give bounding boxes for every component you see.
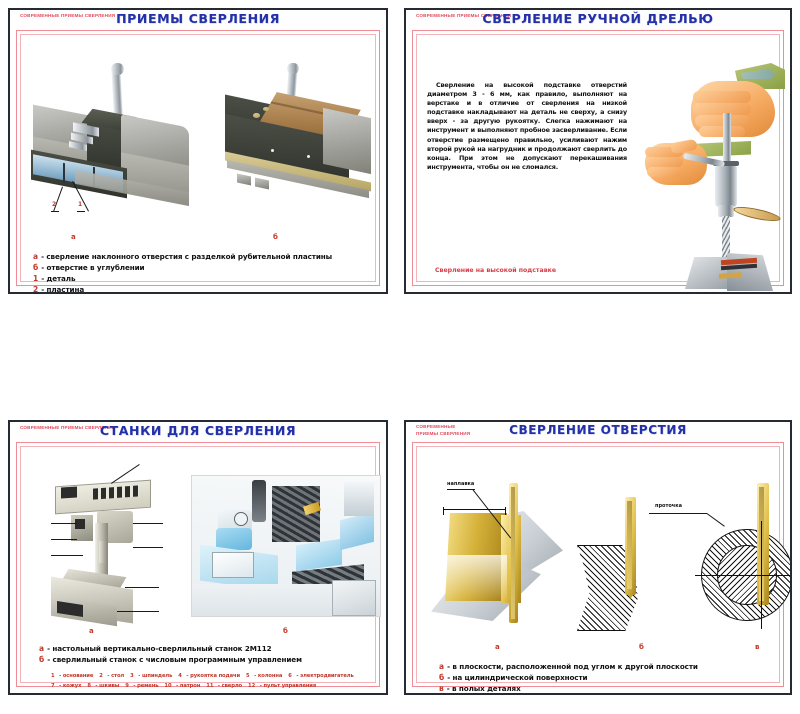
press-leader-2 xyxy=(51,523,77,524)
caption-key: б xyxy=(33,262,38,273)
panel-drilling-techniques: СОВРЕМЕННЫЕ ПРИЕМЫ СВЕРЛЕНИЯ ПРИЕМЫ СВЕР… xyxy=(8,8,388,294)
press-head-badge xyxy=(61,486,77,498)
callout-2: 2 xyxy=(52,201,56,208)
caption-text: - деталь xyxy=(41,273,75,284)
figure-mark-c-4: в xyxy=(755,643,759,651)
panel-4-frame-inner: наплавка а xyxy=(416,446,780,683)
cnc-gauge xyxy=(234,512,248,526)
caption-key: а xyxy=(439,661,444,672)
panel-3-captions: а - настольный вертикально-сверлильный с… xyxy=(39,643,367,665)
workpiece-gold-shadow xyxy=(445,555,507,601)
figure-vise-a: 2 1 xyxy=(29,63,199,228)
legend-item: 7 - кожух xyxy=(51,679,81,690)
dim-line-a xyxy=(443,509,505,510)
legend-text: - сверло xyxy=(218,683,242,689)
panel-2-frame: Сверление на высокой подставке отверстий… xyxy=(412,30,784,286)
cnc-panel-white xyxy=(212,552,254,578)
hand-lower-finger-2 xyxy=(645,157,683,167)
panel-2-stage: Сверление на высокой подставке отверстий… xyxy=(417,35,779,281)
caption-line: а - в плоскости, расположенной под углом… xyxy=(439,661,771,672)
legend-line: 7 - кожух 8 - шкивы 9 - ремень xyxy=(51,679,367,690)
poster-set-page: СОВРЕМЕННЫЕ ПРИЕМЫ СВЕРЛЕНИЯ ПРИЕМЫ СВЕР… xyxy=(0,0,800,714)
legend-text: - кожух xyxy=(59,683,81,689)
panel-1-frame: 2 1 а xyxy=(16,30,380,286)
caption-line: в - в полых деталях xyxy=(439,683,771,694)
annotation-leader-c xyxy=(649,513,707,514)
legend-item: 9 - ремень xyxy=(125,679,158,690)
cnc-gantry xyxy=(252,480,266,522)
caption-text: - сверлильный станок с числовым программ… xyxy=(47,654,302,665)
panel-4-frame: наплавка а xyxy=(412,442,784,687)
hand-upper-finger-1 xyxy=(693,91,751,103)
caption-line: б - отверстие в углублении xyxy=(33,262,367,273)
caption-key: 1 xyxy=(33,273,38,284)
press-leader-8 xyxy=(117,611,159,612)
dim-tick-a2 xyxy=(505,507,506,515)
vise-handle-knob-a xyxy=(111,63,124,75)
annotation-protochka: проточка xyxy=(655,503,682,509)
press-spindle xyxy=(99,541,106,563)
vise-dot-1 xyxy=(271,149,274,152)
caption-line: а - настольный вертикально-сверлильный с… xyxy=(39,643,367,654)
panel-1-inner: СОВРЕМЕННЫЕ ПРИЕМЫ СВЕРЛЕНИЯ ПРИЕМЫ СВЕР… xyxy=(10,10,386,292)
caption-line: б - сверлильный станок с числовым програ… xyxy=(39,654,367,665)
panel-1-stage: 2 1 а xyxy=(21,35,375,281)
drill-gear-housing xyxy=(715,165,737,207)
figure-mark-a-3: а xyxy=(89,627,94,635)
drill-flute-a xyxy=(511,487,515,619)
press-leader-6 xyxy=(133,547,163,548)
figure-drill-press xyxy=(37,465,187,625)
panel-hole-drilling: СОВРЕМЕННЫЕ ПРИЕМЫ СВЕРЛЕНИЯ СВЕРЛЕНИЕ О… xyxy=(404,420,792,695)
figure-mark-b-3: б xyxy=(283,627,288,635)
caption-text: - пластина xyxy=(41,284,84,294)
wood-shaving xyxy=(732,204,781,224)
panel-2-header: СОВРЕМЕННЫЕ ПРИЕМЫ СВЕРЛЕНИЯ СВЕРЛЕНИЕ Р… xyxy=(406,10,790,30)
caption-text: - в плоскости, расположенной под углом к… xyxy=(447,661,698,672)
panel-hand-drill: СОВРЕМЕННЫЕ ПРИЕМЫ СВЕРЛЕНИЯ СВЕРЛЕНИЕ Р… xyxy=(404,8,792,294)
figure-cnc-machine xyxy=(191,475,381,617)
press-leader-7 xyxy=(125,587,159,588)
dim-tick-a1 xyxy=(443,507,444,515)
axis-horizontal xyxy=(695,575,792,576)
caption-line: 1 - деталь xyxy=(33,273,367,284)
legend-text: - патрон xyxy=(176,683,200,689)
caption-key: а xyxy=(33,251,38,262)
annotation-naplavka: наплавка xyxy=(447,481,474,487)
figure-vise-b xyxy=(219,63,379,228)
caption-text: - на цилиндрической поверхности xyxy=(447,672,587,683)
panel-2-inner: СОВРЕМЕННЫЕ ПРИЕМЫ СВЕРЛЕНИЯ СВЕРЛЕНИЕ Р… xyxy=(406,10,790,292)
figure-hand-drill xyxy=(637,61,787,286)
panel-3-frame: а xyxy=(16,442,380,687)
figure-mark-a-4: а xyxy=(495,643,500,651)
annotation-leader-c-drop xyxy=(706,513,724,527)
cnc-cabinet xyxy=(332,580,376,616)
press-gearbox-window xyxy=(75,519,85,529)
legend-key: 12 xyxy=(248,683,255,689)
chip-1 xyxy=(253,113,260,118)
callout-1: 1 xyxy=(78,201,82,208)
leader-foot-1 xyxy=(77,211,85,212)
legend-item: 12 - пульт управления xyxy=(248,679,316,690)
caption-text: - настольный вертикально-сверлильный ста… xyxy=(47,643,271,654)
panel-4-inner: СОВРЕМЕННЫЕ ПРИЕМЫ СВЕРЛЕНИЯ СВЕРЛЕНИЕ О… xyxy=(406,422,790,693)
vise-body-b-right xyxy=(323,108,371,174)
panel-4-captions: а - в плоскости, расположенной под углом… xyxy=(439,661,771,694)
legend-item: 11 - сверло xyxy=(206,679,242,690)
vise-handle-knob-b xyxy=(287,63,299,74)
legend-text: - пульт управления xyxy=(260,683,316,689)
caption-line: 2 - пластина xyxy=(33,284,367,294)
caption-key: 2 xyxy=(33,284,38,294)
vise-foot-2 xyxy=(255,178,269,190)
chip-2 xyxy=(263,107,269,111)
caption-key: б xyxy=(439,672,444,683)
panel-1-captions: а - сверление наклонного отверстия с раз… xyxy=(33,251,367,294)
drill-flute-b xyxy=(627,501,632,591)
legend-key: 7 xyxy=(51,683,55,689)
panel-drilling-machines: СОВРЕМЕННЫЕ ПРИЕМЫ СВЕРЛЕНИЯ СТАНКИ ДЛЯ … xyxy=(8,420,388,695)
caption-line: а - сверление наклонного отверстия с раз… xyxy=(33,251,367,262)
caption-text: - отверстие в углублении xyxy=(41,262,144,273)
hand-upper-finger-2 xyxy=(693,103,751,115)
figure-mark-a: а xyxy=(71,233,76,241)
press-leader-3 xyxy=(51,539,77,540)
panel-2-title: СВЕРЛЕНИЕ РУЧНОЙ ДРЕЛЬЮ xyxy=(406,11,790,26)
axis-vertical xyxy=(761,521,762,629)
vise-dot-2 xyxy=(307,155,310,158)
panel-3-stage: а xyxy=(21,447,375,682)
panel-3-legend-row-2: 7 - кожух 8 - шкивы 9 - ремень xyxy=(51,679,367,690)
legend-item: 8 - шкивы xyxy=(87,679,119,690)
caption-key: б xyxy=(39,654,44,665)
figure-angled-plane: наплавка xyxy=(429,481,569,641)
caption-key: а xyxy=(39,643,44,654)
caption-text: - в полых деталях xyxy=(447,683,521,694)
press-leader-5 xyxy=(133,523,163,524)
legend-item: 10 - патрон xyxy=(164,679,200,690)
panel-1-title: ПРИЕМЫ СВЕРЛЕНИЯ xyxy=(10,11,386,26)
vise-slide-div-1 xyxy=(63,163,65,183)
vise-foot-1 xyxy=(237,174,251,186)
hand-lower-finger-3 xyxy=(647,167,681,177)
legend-key: 8 xyxy=(87,683,91,689)
panel-4-stage: наплавка а xyxy=(417,447,779,682)
figure-mark-b: б xyxy=(273,233,278,241)
legend-key: 9 xyxy=(125,683,129,689)
legend-text: - шкивы xyxy=(95,683,119,689)
panel-1-frame-inner: 2 1 а xyxy=(20,34,376,282)
panel-3-title: СТАНКИ ДЛЯ СВЕРЛЕНИЯ xyxy=(10,423,386,438)
panel-2-red-note: Сверление на высокой подставке xyxy=(435,267,556,274)
legend-key: 11 xyxy=(206,683,213,689)
legend-key: 10 xyxy=(164,683,171,689)
panel-2-body-text: Сверление на высокой подставке отверстий… xyxy=(427,81,627,172)
panel-1-header: СОВРЕМЕННЫЕ ПРИЕМЫ СВЕРЛЕНИЯ ПРИЕМЫ СВЕР… xyxy=(10,10,386,30)
panel-2-frame-inner: Сверление на высокой подставке отверстий… xyxy=(416,34,780,282)
figure-mark-b-4: б xyxy=(639,643,644,651)
caption-text: - сверление наклонного отверстия с разде… xyxy=(41,251,332,262)
legend-text: - ремень xyxy=(133,683,158,689)
panel-4-header: СОВРЕМЕННЫЕ ПРИЕМЫ СВЕРЛЕНИЯ СВЕРЛЕНИЕ О… xyxy=(406,422,790,442)
figure-hollow-part: проточка xyxy=(695,483,792,653)
hand-upper-finger-4 xyxy=(699,126,745,137)
panel-4-title: СВЕРЛЕНИЕ ОТВЕРСТИЯ xyxy=(406,423,790,437)
cnc-column-right xyxy=(344,482,374,516)
cnc-dark-panel xyxy=(272,486,320,542)
annotation-leader-a-top xyxy=(447,489,475,490)
figure-cylindrical xyxy=(577,497,687,647)
caption-line: б - на цилиндрической поверхности xyxy=(439,672,771,683)
caption-key: в xyxy=(439,683,444,694)
press-leader-4 xyxy=(51,555,83,556)
panel-3-inner: СОВРЕМЕННЫЕ ПРИЕМЫ СВЕРЛЕНИЯ СТАНКИ ДЛЯ … xyxy=(10,422,386,693)
cylinder-section-hatch xyxy=(577,545,655,631)
leader-foot-2 xyxy=(51,211,59,212)
panel-3-header: СОВРЕМЕННЫЕ ПРИЕМЫ СВЕРЛЕНИЯ СТАНКИ ДЛЯ … xyxy=(10,422,386,442)
panel-3-frame-inner: а xyxy=(20,446,376,683)
